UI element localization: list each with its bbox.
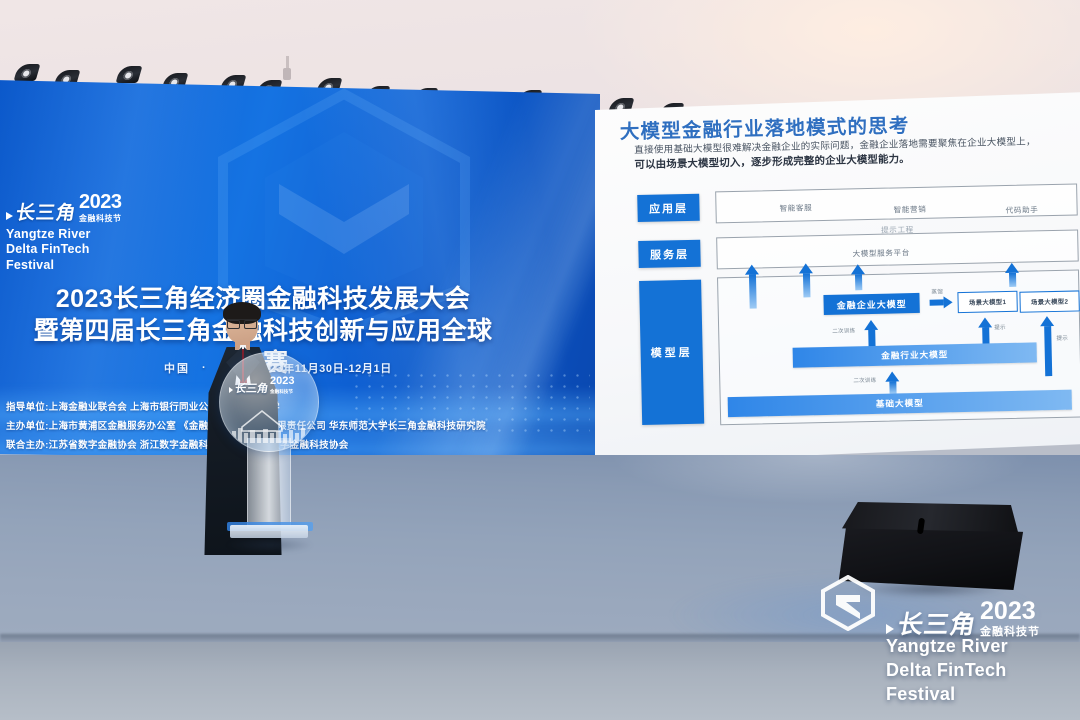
glasses-icon xyxy=(227,319,257,327)
watermark-en-line-1: Yangtze River xyxy=(886,635,1008,659)
up-arrow-stem xyxy=(1044,326,1052,376)
festival-logo: 长三角 2023 金融科技节 Yangtze River Delta FinTe… xyxy=(6,192,136,273)
up-arrow-stem xyxy=(748,274,756,308)
monitor-top-face xyxy=(842,502,1018,532)
podium: 长三角 2023 金融科技节 xyxy=(205,352,330,556)
logo-en-line-2: Delta FinTech xyxy=(6,242,136,257)
up-arrow-icon xyxy=(864,320,878,330)
up-arrow-icon xyxy=(1005,263,1019,273)
annotation-prompt-1: 提示 xyxy=(994,323,1006,331)
annotation-prompt-2: 提示 xyxy=(1056,334,1068,342)
up-arrow-stem xyxy=(802,273,810,297)
up-arrow-icon xyxy=(851,264,865,274)
app-item-code-assistant: 代码助手 xyxy=(1006,204,1039,216)
up-arrow-icon xyxy=(1040,316,1054,326)
right-arrow-icon xyxy=(943,296,952,308)
festival-watermark: 长三角 2023 金融科技节 Yangtze River Delta FinTe… xyxy=(820,575,1075,715)
logo-year: 2023 xyxy=(79,191,122,213)
layer-tag-service: 服务层 xyxy=(638,240,701,268)
stage-light xyxy=(116,66,143,83)
annotation-finetune-2: 二次训练 xyxy=(853,376,876,385)
emblem-cn-subtitle: 金融科技节 xyxy=(270,390,294,395)
up-arrow-icon xyxy=(885,371,899,381)
conference-stage-photo: 长三角 2023 金融科技节 Yangtze River Delta FinTe… xyxy=(0,0,1080,720)
emblem-cn-mark: 长三角 xyxy=(234,384,269,395)
presentation-screen: 大模型金融行业落地模式的思考 直接使用基础大模型很难解决金融企业的实际问题，金融… xyxy=(595,92,1080,464)
logo-cn-subtitle: 金融科技节 xyxy=(79,215,122,223)
logo-en-line-3: Festival xyxy=(6,258,136,273)
scenario-model-chip-1: 场景大模型1 xyxy=(957,291,1017,313)
wall-fixture xyxy=(283,68,291,80)
logo-arrow-icon xyxy=(6,212,13,220)
app-item-smart-marketing: 智能营销 xyxy=(893,204,926,216)
scenario-model-chip-2: 场景大模型2 xyxy=(1019,290,1079,312)
annotation-finetune-1: 二次训练 xyxy=(832,326,855,335)
event-country: 中国 xyxy=(164,360,190,376)
up-arrow-icon xyxy=(799,263,813,273)
logo-cn-mark: 长三角 xyxy=(14,204,77,223)
layer-tag-application: 应用层 xyxy=(637,194,700,222)
logo-en-line-1: Yangtze River xyxy=(6,227,136,242)
up-arrow-stem xyxy=(1008,273,1015,287)
slide-content: 大模型金融行业落地模式的思考 直接使用基础大模型很难解决金融企业的实际问题，金融… xyxy=(595,92,1080,464)
watermark-en-line-2: Delta FinTech xyxy=(886,659,1008,683)
app-item-smart-service: 智能客服 xyxy=(779,202,812,214)
up-arrow-stem xyxy=(854,274,861,290)
annotation-distill: 蒸馏 xyxy=(931,287,943,295)
up-arrow-icon xyxy=(745,264,759,274)
podium-base xyxy=(230,525,308,538)
watermark-arrow-icon xyxy=(886,624,894,634)
model-enterprise-box: 金融企业大模型 xyxy=(823,293,919,315)
watermark-year: 2023 xyxy=(980,597,1036,625)
up-arrow-icon xyxy=(978,317,992,327)
emblem-arrow-icon xyxy=(229,387,233,393)
up-arrow-stem xyxy=(889,381,896,393)
city-skyline-icon xyxy=(228,397,312,445)
service-item-platform: 大模型服务平台 xyxy=(852,247,910,259)
watermark-en-line-3: Festival xyxy=(886,683,1008,707)
right-arrow-stem xyxy=(930,299,944,305)
layer-tag-model: 模型层 xyxy=(639,280,704,425)
podium-emblem: 长三角 2023 金融科技节 xyxy=(219,352,319,452)
hexagon-badge-icon xyxy=(820,575,876,631)
stage-light xyxy=(14,64,41,81)
emblem-year: 2023 xyxy=(270,375,294,387)
